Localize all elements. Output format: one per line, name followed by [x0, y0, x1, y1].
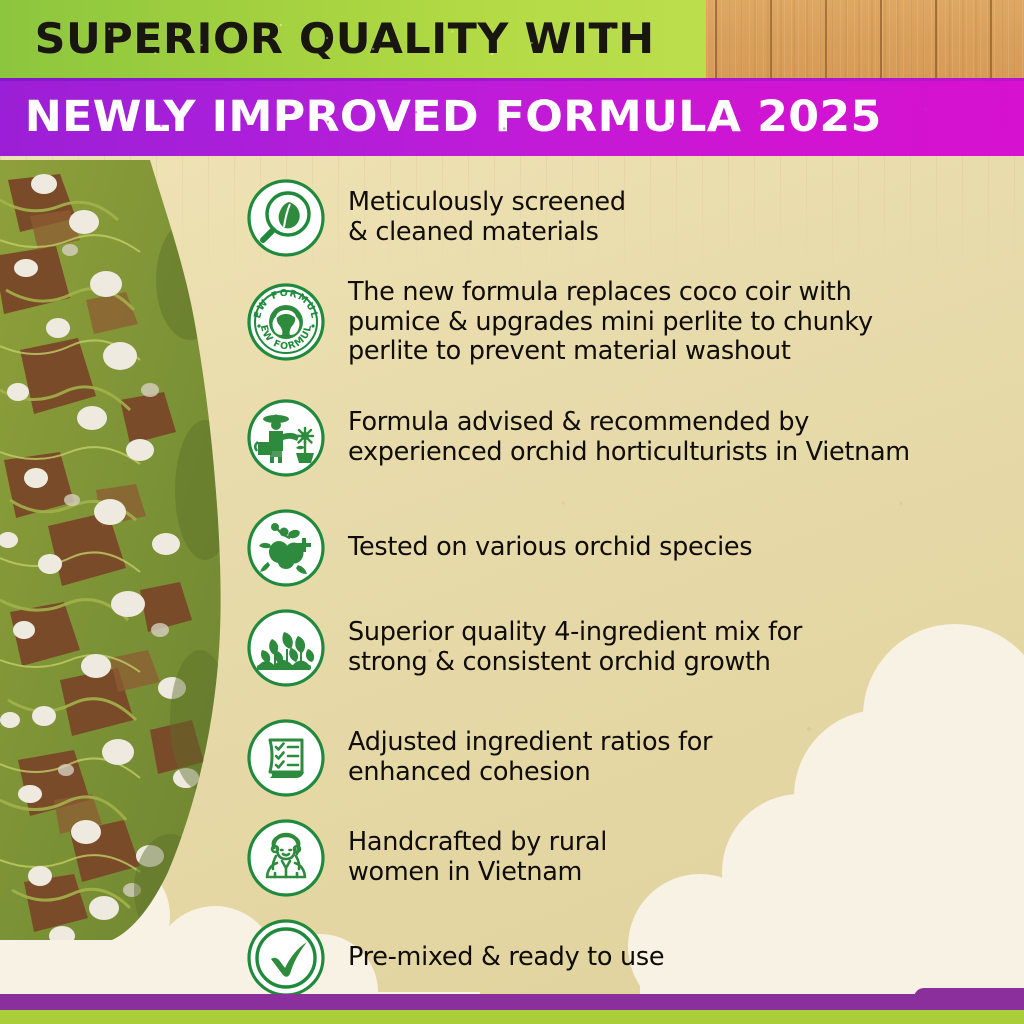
gardener-watering-icon — [246, 398, 326, 478]
feature-item: Pre-mixed & ready to use — [246, 918, 664, 998]
bottom-bar-green — [0, 1010, 1024, 1024]
feature-text: Pre-mixed & ready to use — [348, 943, 664, 973]
feature-item: Tested on various orchid species — [246, 508, 752, 588]
headline-banner-purple: NEWLY IMPROVED FORMULA 2025 — [0, 78, 1024, 156]
magnifier-leaf-icon — [246, 178, 326, 258]
feature-text: Superior quality 4-ingredient mix for st… — [348, 618, 802, 677]
foliage-plants-icon — [246, 608, 326, 688]
headline-green-text: SUPERIOR QUALITY WITH — [0, 18, 655, 60]
checklist-document-icon — [246, 718, 326, 798]
feature-list: Meticulously screened & cleaned material… — [0, 156, 1024, 1024]
checkmark-circle-icon — [246, 918, 326, 998]
banner-purple-topline — [0, 78, 1024, 81]
new-formula-badge-icon: NEW FORMULA NEW FORMULA — [246, 282, 326, 362]
feature-item: Meticulously screened & cleaned material… — [246, 178, 626, 258]
feature-text: Handcrafted by rural women in Vietnam — [348, 828, 607, 887]
headline-purple-text: NEWLY IMPROVED FORMULA 2025 — [0, 96, 882, 139]
feature-text: Meticulously screened & cleaned material… — [348, 188, 626, 247]
feature-item: NEW FORMULA NEW FORMULA The new formula — [246, 278, 873, 367]
feature-item: Formula advised & recommended by experie… — [246, 398, 910, 478]
infographic-root: SUPERIOR QUALITY WITH NEWLY IMPROVED FOR… — [0, 0, 1024, 1024]
feature-text: Formula advised & recommended by experie… — [348, 408, 910, 467]
headline-banner-green: SUPERIOR QUALITY WITH — [0, 0, 706, 78]
feature-text: Adjusted ingredient ratios for enhanced … — [348, 728, 712, 787]
feature-text: Tested on various orchid species — [348, 533, 752, 563]
rural-woman-icon — [246, 818, 326, 898]
feature-item: Handcrafted by rural women in Vietnam — [246, 818, 607, 898]
feature-text: The new formula replaces coco coir with … — [348, 278, 873, 367]
orchid-plus-icon — [246, 508, 326, 588]
bottom-bar-purple — [0, 994, 1024, 1010]
feature-item: Adjusted ingredient ratios for enhanced … — [246, 718, 712, 798]
feature-item: Superior quality 4-ingredient mix for st… — [246, 608, 802, 688]
